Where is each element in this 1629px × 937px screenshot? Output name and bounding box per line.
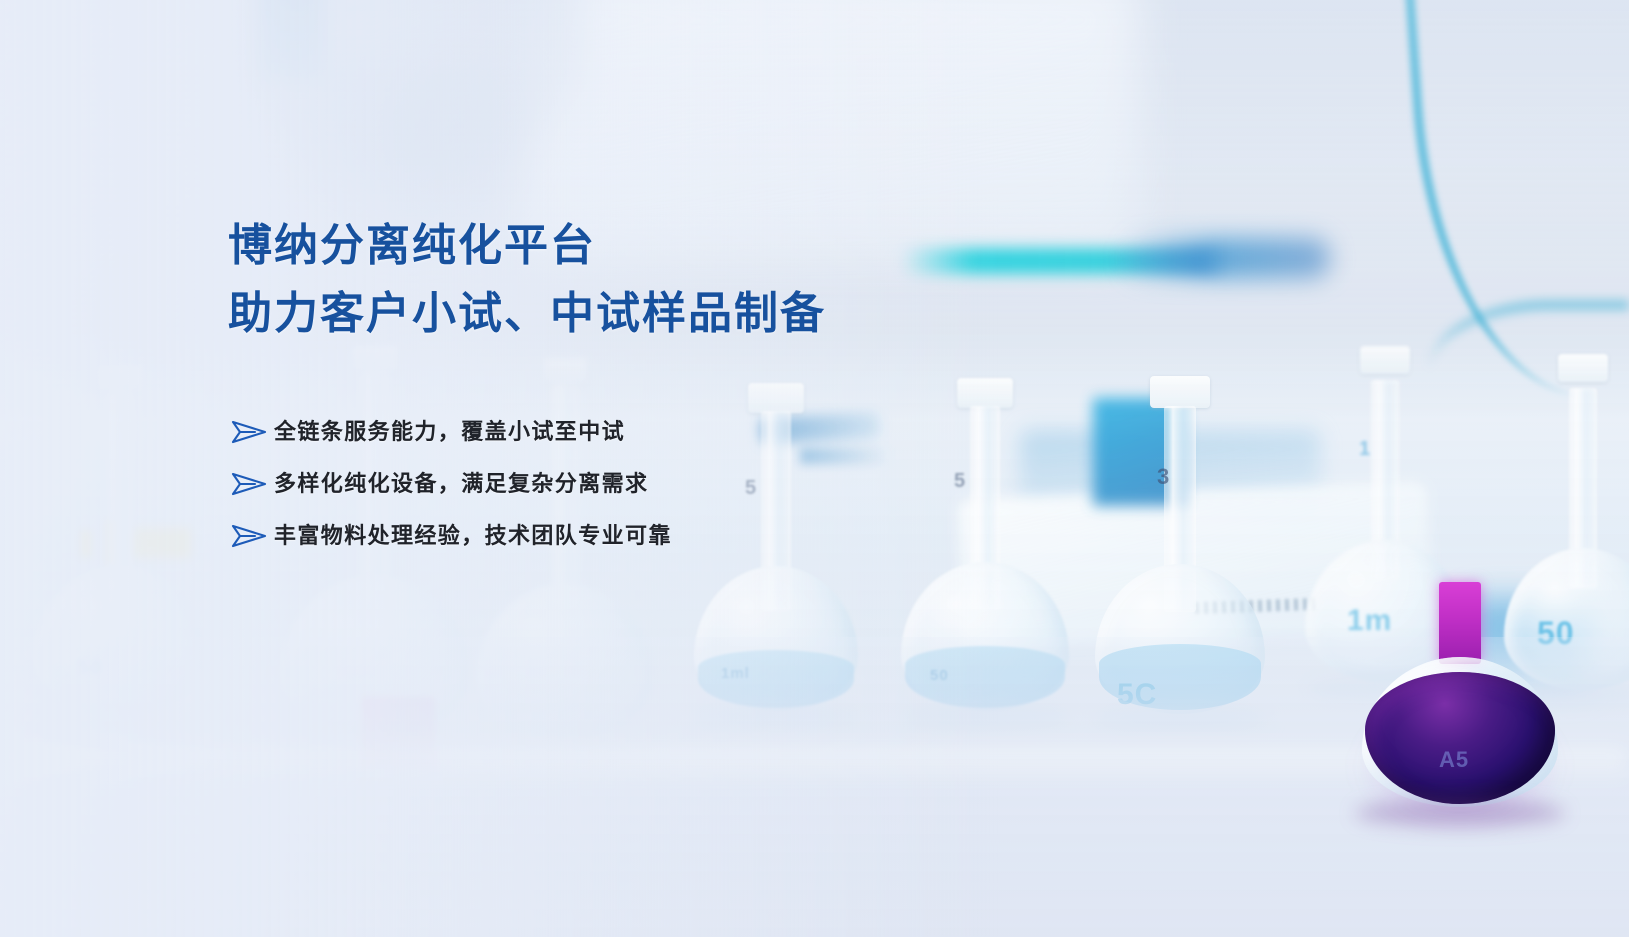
- page-title: 博纳分离纯化平台 助力客户小试、中试样品制备: [228, 212, 826, 348]
- list-item-label: 多样化纯化设备，满足复杂分离需求: [274, 469, 648, 499]
- flask-stopper: [1558, 354, 1608, 382]
- list-item-label: 全链条服务能力，覆盖小试至中试: [274, 417, 625, 447]
- headline-line-2: 助力客户小试、中试样品制备: [228, 280, 826, 348]
- flask-mark: A5: [1439, 747, 1469, 773]
- list-item: 丰富物料处理经验，技术团队专业可靠: [230, 515, 672, 557]
- list-item: 多样化纯化设备，满足复杂分离需求: [230, 463, 672, 505]
- feature-list: 全链条服务能力，覆盖小试至中试 多样化纯化设备，满足复杂分离需求: [230, 411, 672, 567]
- headline-line-1: 博纳分离纯化平台: [228, 212, 826, 280]
- send-arrow-icon: [230, 521, 274, 551]
- flask-stopper: [98, 366, 142, 392]
- flask-purple-foreground: A5: [1355, 582, 1565, 817]
- hero-banner: 50 5 1ml: [0, 0, 1629, 937]
- list-item-label: 丰富物料处理经验，技术团队专业可靠: [274, 521, 672, 551]
- flask-stopper: [1360, 346, 1410, 374]
- flask-neck-purple: [1439, 582, 1481, 664]
- send-arrow-icon: [230, 469, 274, 499]
- list-item: 全链条服务能力，覆盖小试至中试: [230, 411, 672, 453]
- send-arrow-icon: [230, 417, 274, 447]
- flask-mark: 1: [1359, 438, 1371, 461]
- flask-mark: 3: [1157, 464, 1170, 490]
- photo-cyan-streak-tail: [1120, 238, 1330, 278]
- banner-content: 博纳分离纯化平台 助力客户小试、中试样品制备 全链条服务能力，覆盖小试至中试: [228, 0, 1088, 937]
- flask-shadow: [1355, 799, 1565, 827]
- flask-stopper: [1150, 376, 1210, 408]
